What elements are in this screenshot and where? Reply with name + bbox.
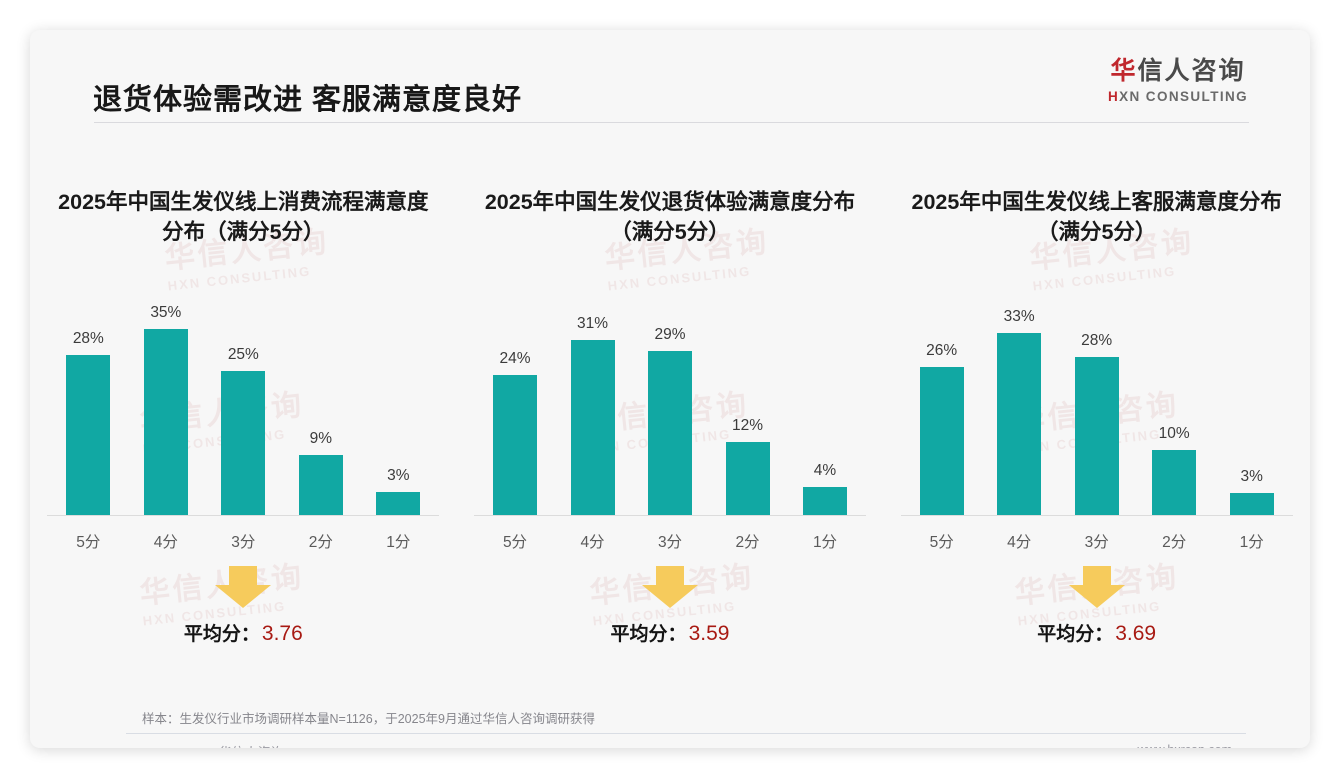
charts-row: 2025年中国生发仪线上消费流程满意度分布（满分5分） 28% 35% 25%: [30, 158, 1310, 678]
bar-item: 24%: [488, 284, 542, 515]
average-label: 平均分：: [184, 624, 260, 645]
bar-chart: 28% 35% 25% 9%: [47, 284, 439, 516]
average-block: 平均分：3.59: [500, 566, 840, 646]
bar-value-label: 28%: [73, 330, 104, 348]
average-value: 3.76: [262, 622, 303, 645]
bar-value-label: 9%: [310, 430, 332, 448]
average-block: 平均分：3.69: [927, 566, 1267, 646]
logo-english: HXN CONSULTING: [1088, 89, 1268, 104]
bar-item: 35%: [139, 284, 193, 515]
chart-title: 2025年中国生发仪线上客服满意度分布（满分5分）: [902, 188, 1292, 247]
bar-rect: [144, 329, 188, 515]
bar-item: 33%: [992, 284, 1046, 515]
bar-item: 10%: [1147, 284, 1201, 515]
bar-item: 31%: [566, 284, 620, 515]
x-tick-label: 2分: [294, 516, 348, 556]
bar-rect: [376, 492, 420, 515]
chart-panel-0: 2025年中国生发仪线上消费流程满意度分布（满分5分） 28% 35% 25%: [30, 158, 457, 678]
bar-value-label: 25%: [228, 346, 259, 364]
average-score: 平均分：3.59: [500, 619, 840, 646]
average-label: 平均分：: [1037, 624, 1113, 645]
bar-item: 28%: [1070, 284, 1124, 515]
bar-item: 3%: [1225, 284, 1279, 515]
x-tick-label: 3分: [1070, 516, 1124, 556]
x-tick-label: 1分: [371, 516, 425, 556]
bar-value-label: 28%: [1081, 332, 1112, 350]
bar-item: 28%: [61, 284, 115, 515]
bar-chart: 26% 33% 28% 10%: [901, 284, 1293, 516]
bar-series: 26% 33% 28% 10%: [901, 284, 1293, 516]
logo-chinese-first-char: 华: [1110, 57, 1137, 85]
bar-series: 28% 35% 25% 9%: [47, 284, 439, 516]
bar-rect: [997, 333, 1041, 515]
bar-item: 9%: [294, 284, 348, 515]
average-label: 平均分：: [611, 624, 687, 645]
chart-panel-2: 2025年中国生发仪线上客服满意度分布（满分5分） 26% 33% 28%: [883, 158, 1310, 678]
x-axis: 5分 4分 3分 2分 1分: [474, 516, 866, 556]
bar-item: 29%: [643, 284, 697, 515]
x-tick-label: 4分: [139, 516, 193, 556]
bar-value-label: 24%: [499, 350, 530, 368]
bar-rect: [648, 351, 692, 515]
down-arrow-icon: [642, 566, 698, 608]
x-tick-label: 1分: [798, 516, 852, 556]
website-url: www.hxrcon.com: [1138, 743, 1232, 748]
bar-series: 24% 31% 29% 12%: [474, 284, 866, 516]
source-footnote: 样本：生发仪行业市场调研样本量N=1126，于2025年9月通过华信人咨询调研获…: [142, 708, 595, 727]
x-tick-label: 4分: [566, 516, 620, 556]
x-tick-label: 5分: [61, 516, 115, 556]
average-score: 平均分：3.76: [73, 619, 413, 646]
bar-item: 25%: [216, 284, 270, 515]
x-tick-label: 5分: [915, 516, 969, 556]
slide-header: 退货体验需改进 客服满意度良好 华信人咨询 HXN CONSULTING: [30, 30, 1310, 122]
footer-divider: [126, 733, 1246, 734]
page-title: 退货体验需改进 客服满意度良好: [93, 76, 522, 118]
logo-english-rest: XN CONSULTING: [1119, 89, 1248, 104]
chart-panel-1: 2025年中国生发仪退货体验满意度分布（满分5分） 24% 31% 29%: [457, 158, 884, 678]
bar-value-label: 10%: [1159, 425, 1190, 443]
x-tick-label: 3分: [216, 516, 270, 556]
brand-logo: 华信人咨询 HXN CONSULTING: [1088, 58, 1268, 104]
chart-title: 2025年中国生发仪线上消费流程满意度分布（满分5分）: [48, 188, 438, 247]
average-score: 平均分：3.69: [927, 619, 1267, 646]
average-value: 3.69: [1115, 622, 1156, 645]
bar-chart: 24% 31% 29% 12%: [474, 284, 866, 516]
x-tick-label: 2分: [1147, 516, 1201, 556]
bar-rect: [299, 455, 343, 515]
average-value: 3.59: [689, 622, 730, 645]
x-axis: 5分 4分 3分 2分 1分: [901, 516, 1293, 556]
bar-item: 12%: [721, 284, 775, 515]
average-block: 平均分：3.76: [73, 566, 413, 646]
logo-chinese: 华信人咨询: [1088, 58, 1268, 86]
bar-value-label: 29%: [654, 326, 685, 344]
bar-rect: [1152, 450, 1196, 515]
bar-value-label: 26%: [926, 342, 957, 360]
bar-rect: [493, 375, 537, 515]
header-divider: [94, 122, 1249, 123]
x-tick-label: 2分: [721, 516, 775, 556]
bar-item: 26%: [915, 284, 969, 515]
bar-value-label: 4%: [814, 462, 836, 480]
x-axis: 5分 4分 3分 2分 1分: [47, 516, 439, 556]
bar-rect: [920, 367, 964, 515]
bar-rect: [66, 355, 110, 515]
bar-rect: [803, 487, 847, 515]
bar-rect: [221, 371, 265, 515]
bar-value-label: 33%: [1004, 308, 1035, 326]
copyright-text: ©2025.11 HXR华信人咨询: [132, 742, 284, 748]
x-tick-label: 4分: [992, 516, 1046, 556]
bar-value-label: 31%: [577, 315, 608, 333]
chart-title: 2025年中国生发仪退货体验满意度分布（满分5分）: [475, 188, 865, 247]
bar-rect: [726, 442, 770, 515]
down-arrow-icon: [215, 566, 271, 608]
bar-value-label: 3%: [1240, 468, 1262, 486]
logo-english-first-char: H: [1108, 89, 1119, 104]
x-tick-label: 5分: [488, 516, 542, 556]
bar-rect: [1075, 357, 1119, 515]
bar-rect: [1230, 493, 1274, 515]
bar-item: 4%: [798, 284, 852, 515]
logo-chinese-rest: 信人咨询: [1138, 57, 1246, 85]
x-tick-label: 3分: [643, 516, 697, 556]
bar-value-label: 35%: [150, 304, 181, 322]
bar-item: 3%: [371, 284, 425, 515]
x-tick-label: 1分: [1225, 516, 1279, 556]
bar-value-label: 12%: [732, 417, 763, 435]
down-arrow-icon: [1069, 566, 1125, 608]
slide-card: 退货体验需改进 客服满意度良好 华信人咨询 HXN CONSULTING 华信人…: [30, 30, 1310, 748]
bar-value-label: 3%: [387, 467, 409, 485]
bar-rect: [571, 340, 615, 515]
